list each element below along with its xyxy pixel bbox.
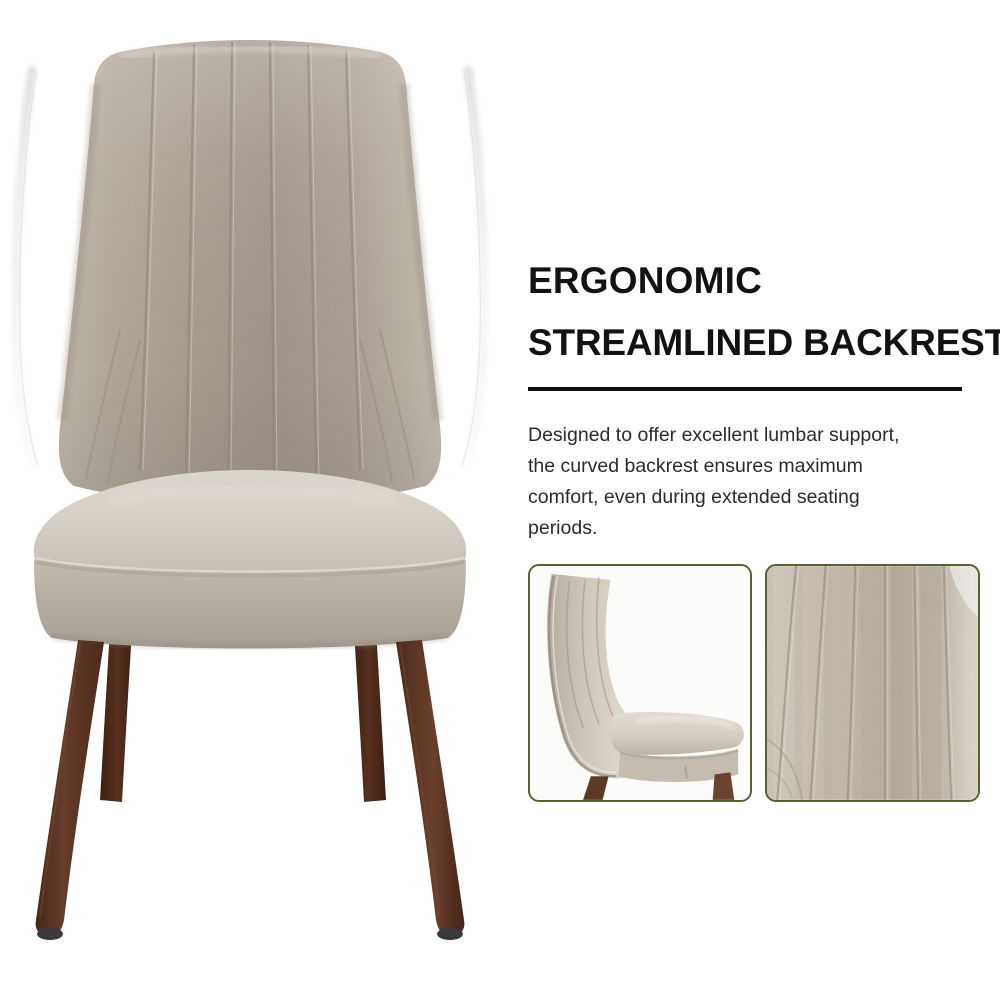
hero-chair-image [0,0,500,1000]
headline-line-2: STREAMLINED BACKREST [528,322,1000,363]
thumbnail-fabric-channel-detail[interactable] [765,564,980,802]
side-profile-illustration [530,566,750,800]
fabric-detail-illustration [767,566,978,800]
leg-glide [437,928,463,940]
detail-thumbnail-row [528,564,980,802]
headline-divider-rule [528,387,962,391]
product-feature-page: ERGONOMIC STREAMLINED BACKREST Designed … [0,0,1000,1000]
chair-illustration [0,0,500,1000]
thumbnail-side-profile[interactable] [528,564,752,802]
leg-glide [37,928,63,940]
page-title: ERGONOMIC STREAMLINED BACKREST [528,250,1000,374]
chair-backrest [59,40,441,506]
headline-block: ERGONOMIC STREAMLINED BACKREST [528,250,1000,374]
headline-line-1: ERGONOMIC [528,260,762,301]
feature-description: Designed to offer excellent lumbar suppo… [528,420,928,544]
chair-seat [34,470,466,649]
